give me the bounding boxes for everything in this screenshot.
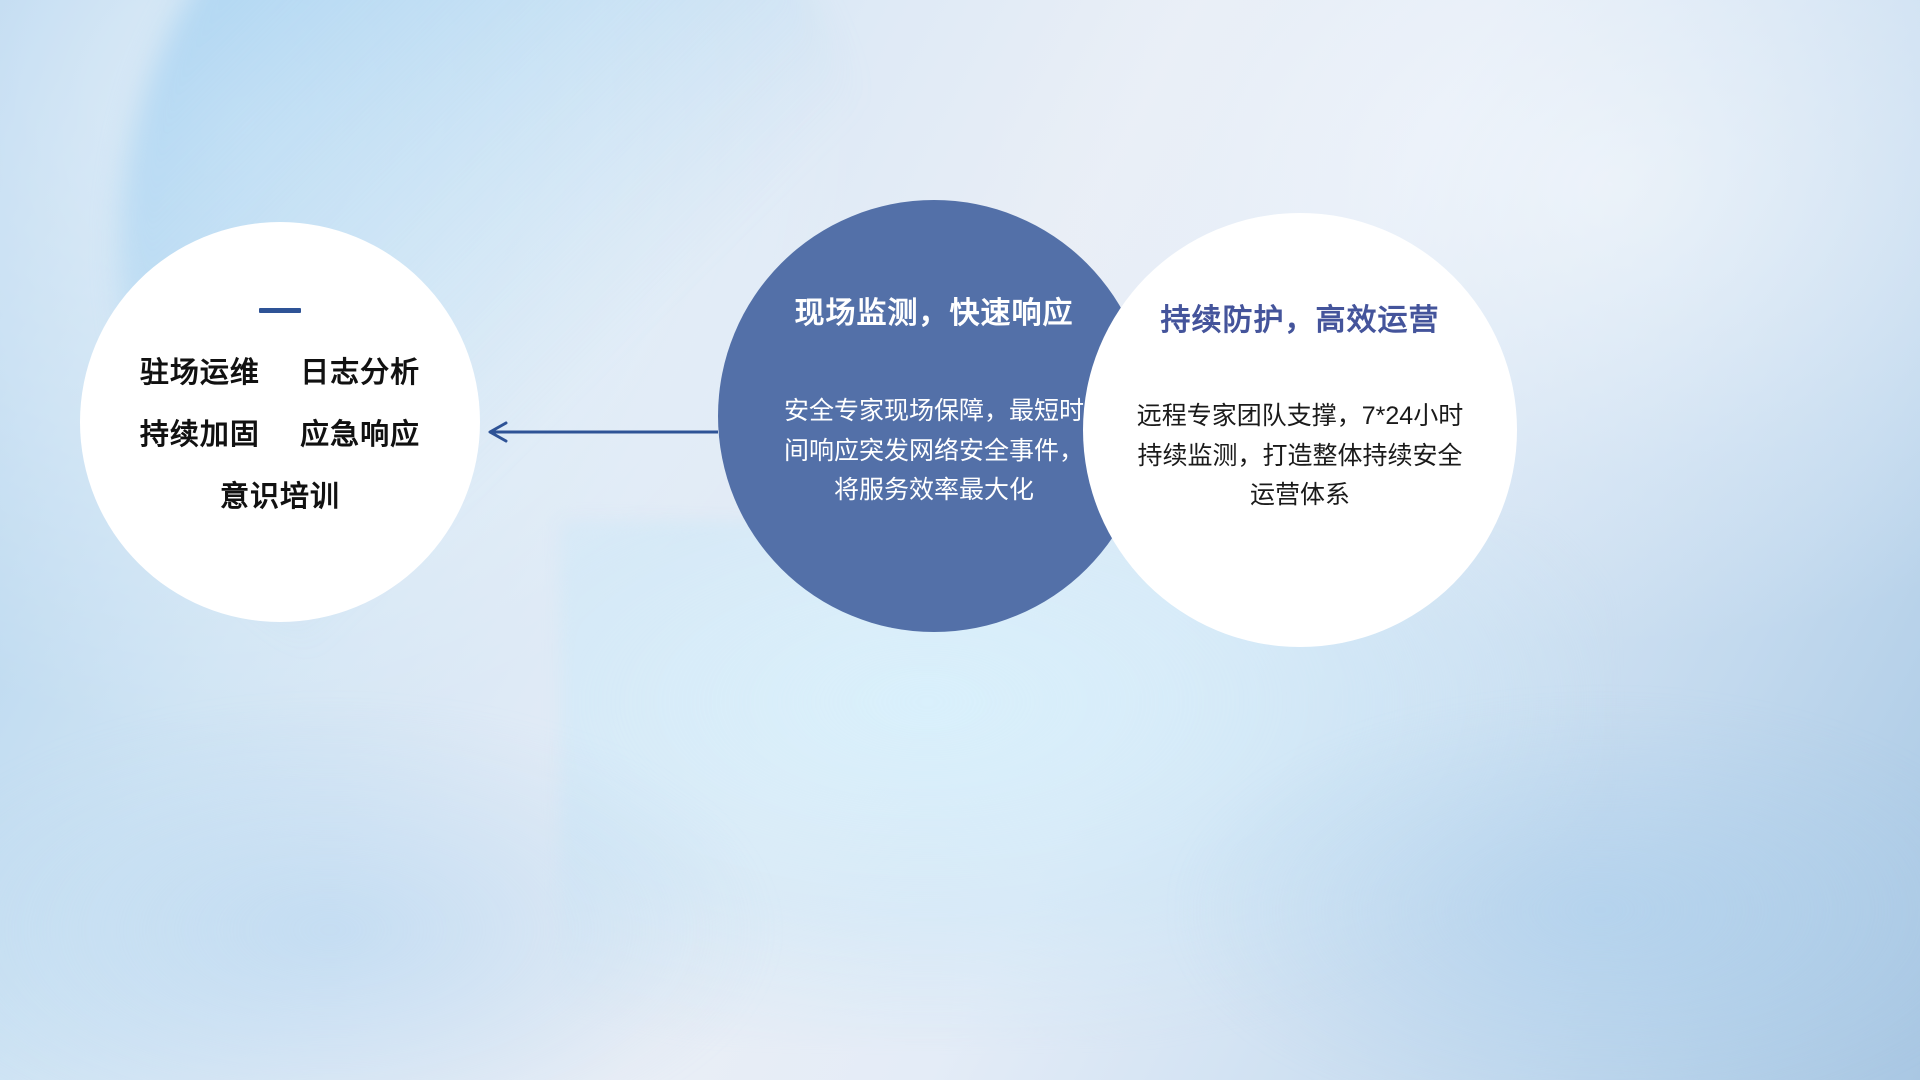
keyword-item: 持续加固 bbox=[140, 419, 260, 451]
background-glow-center-bottom bbox=[560, 520, 1610, 1040]
keyword-row: 持续加固 应急响应 bbox=[140, 421, 420, 450]
keyword-item: 日志分析 bbox=[300, 357, 420, 389]
keyword-item: 驻场运维 bbox=[140, 357, 260, 389]
circle-title: 现场监测，快速响应 bbox=[795, 288, 1074, 332]
background-glow-bottom-right bbox=[1180, 700, 1920, 1080]
keyword-row: 意识培训 bbox=[220, 483, 340, 512]
background-glow-bottom-left bbox=[0, 700, 780, 1080]
circle-title: 持续防护，高效运营 bbox=[1161, 295, 1440, 339]
continuous-protection-circle: 持续防护，高效运营 远程专家团队支撑，7*24小时持续监测，打造整体持续安全运营… bbox=[1083, 213, 1517, 647]
arrow-left-icon bbox=[480, 420, 720, 444]
circle-body-text: 安全专家现场保障，最短时间响应突发网络安全事件，将服务效率最大化 bbox=[784, 392, 1084, 511]
slide-canvas: 驻场运维 日志分析 持续加固 应急响应 意识培训 现场监测，快速响应 安全专家现… bbox=[0, 0, 1920, 1080]
title-divider-rule bbox=[259, 308, 301, 313]
keyword-row: 驻场运维 日志分析 bbox=[140, 359, 420, 388]
keyword-item: 意识培训 bbox=[220, 481, 340, 513]
capability-keywords-circle: 驻场运维 日志分析 持续加固 应急响应 意识培训 bbox=[80, 222, 480, 622]
keyword-item: 应急响应 bbox=[300, 419, 420, 451]
circle-body-text: 远程专家团队支撑，7*24小时持续监测，打造整体持续安全运营体系 bbox=[1135, 397, 1465, 516]
